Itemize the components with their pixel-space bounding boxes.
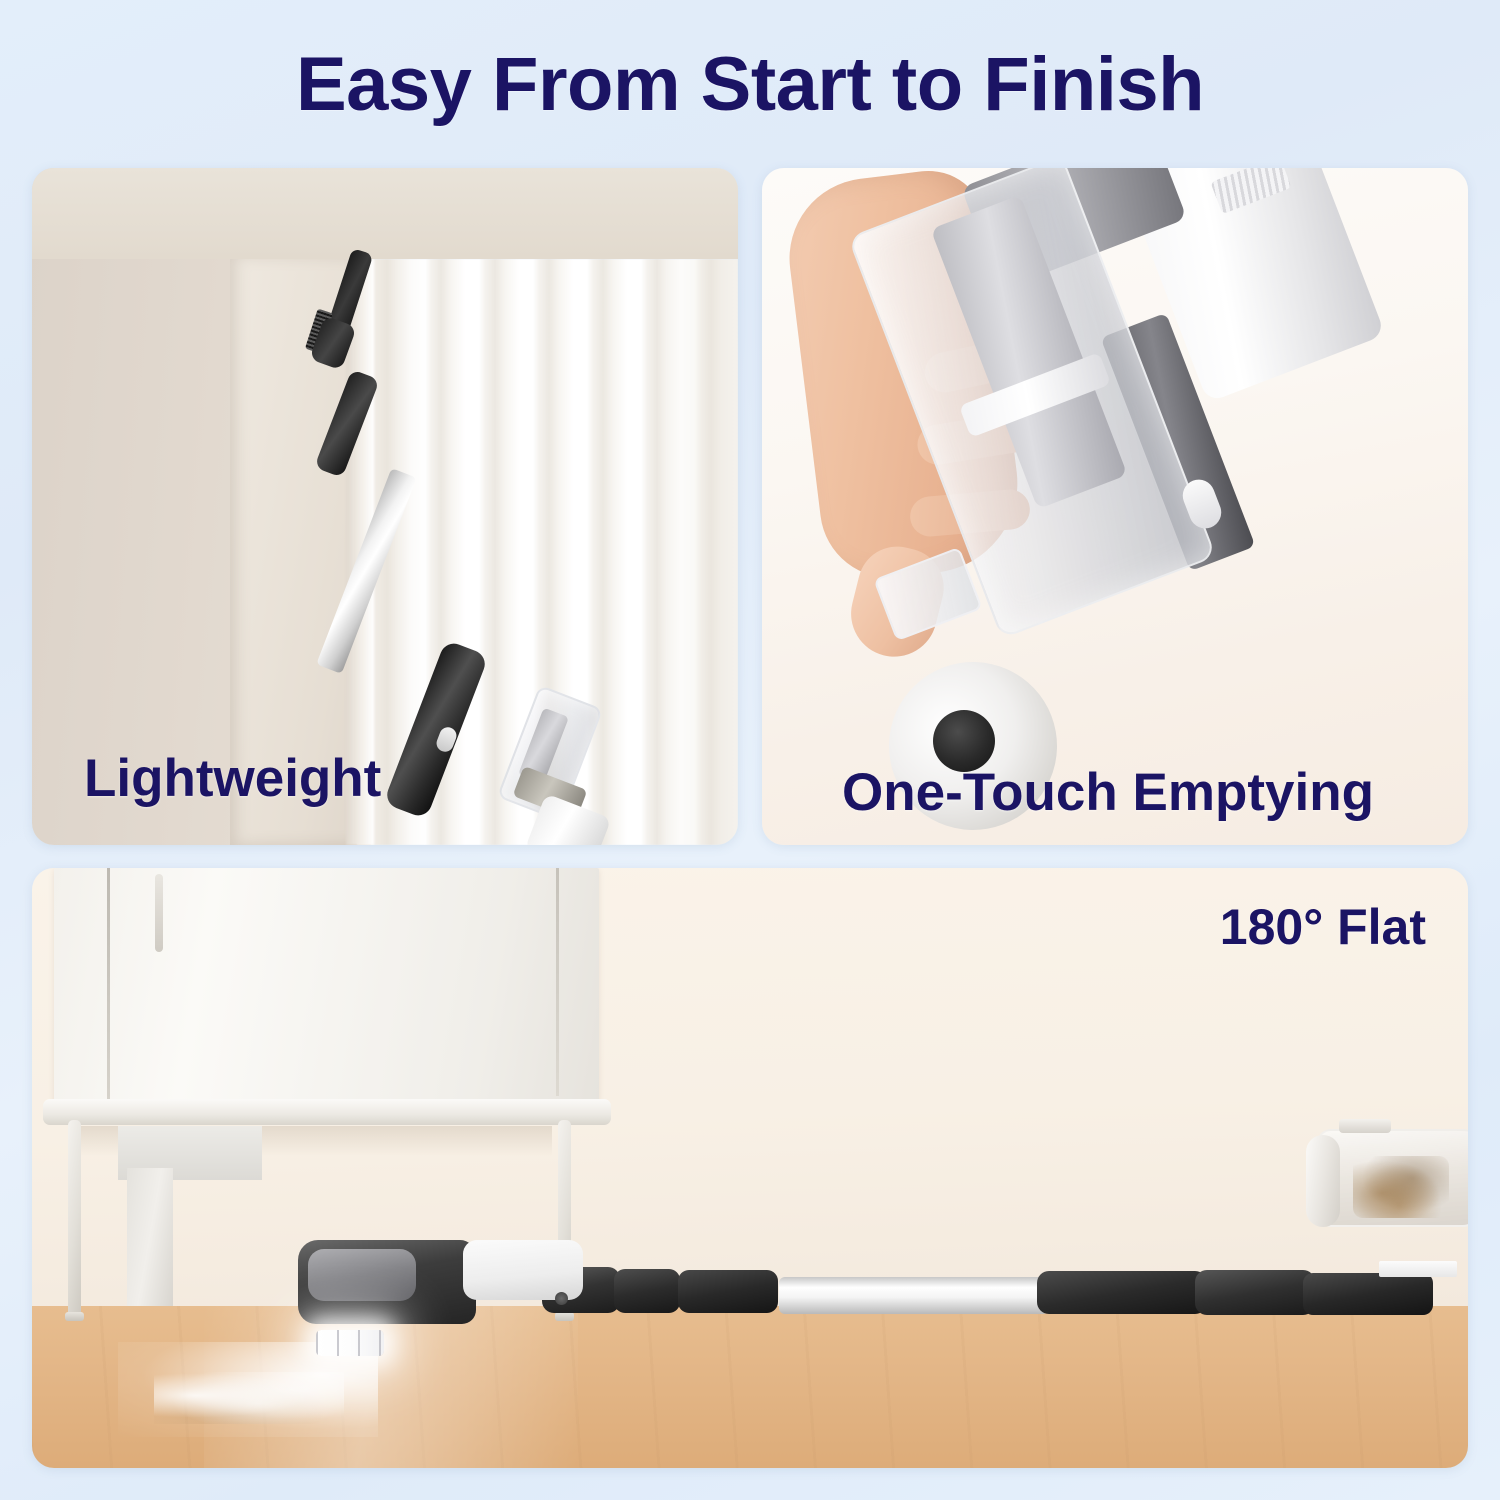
product-label-plate [1379,1261,1457,1277]
cabinet-foot-right [555,1312,574,1321]
dust-debris-on-floor [154,1372,344,1424]
brush-head-pivot-icon [555,1292,568,1305]
led-headlight-segments [316,1330,384,1356]
page-title: Easy From Start to Finish [296,41,1204,128]
lightweight-scene-image [32,168,738,845]
aluminum-extension-wand [779,1277,1049,1314]
cabinet-side-seam [556,868,559,1096]
brush-head-top-cover [463,1240,583,1300]
cabinet-foot-left [65,1312,84,1321]
wand-joint [614,1269,680,1313]
flat-scene-image [32,868,1468,1468]
one-touch-emptying-scene-image [762,168,1468,845]
cabinet-inner-strip [127,1168,173,1306]
cabinet-base-rail [43,1099,610,1125]
page-header: Easy From Start to Finish [0,0,1500,168]
panel-label-lightweight: Lightweight [84,748,381,809]
wand-upper-joint [1037,1271,1207,1314]
panel-label-one-touch-emptying: One-Touch Emptying [842,762,1374,823]
dust-cup-latch [1339,1119,1391,1133]
feature-panel-one-touch-emptying: One-Touch Emptying [762,168,1468,845]
cabinet-leg-left [68,1120,81,1318]
wall-header-band [32,168,738,259]
feature-panel-180-flat: 180° Flat [32,868,1468,1468]
cabinet-handle [155,874,163,952]
white-cabinet [54,868,600,1102]
wand-connector [678,1270,778,1313]
handle-connector [1195,1270,1315,1315]
feature-panel-lightweight: Lightweight [32,168,738,845]
dust-cup-end-cap [1306,1135,1340,1227]
cabinet-door-seam [107,868,110,1102]
vacuum-handle-body [1303,1273,1433,1315]
panel-label-180-flat: 180° Flat [1220,898,1426,956]
brush-head-window [308,1249,416,1301]
collected-dirt [1353,1156,1449,1218]
